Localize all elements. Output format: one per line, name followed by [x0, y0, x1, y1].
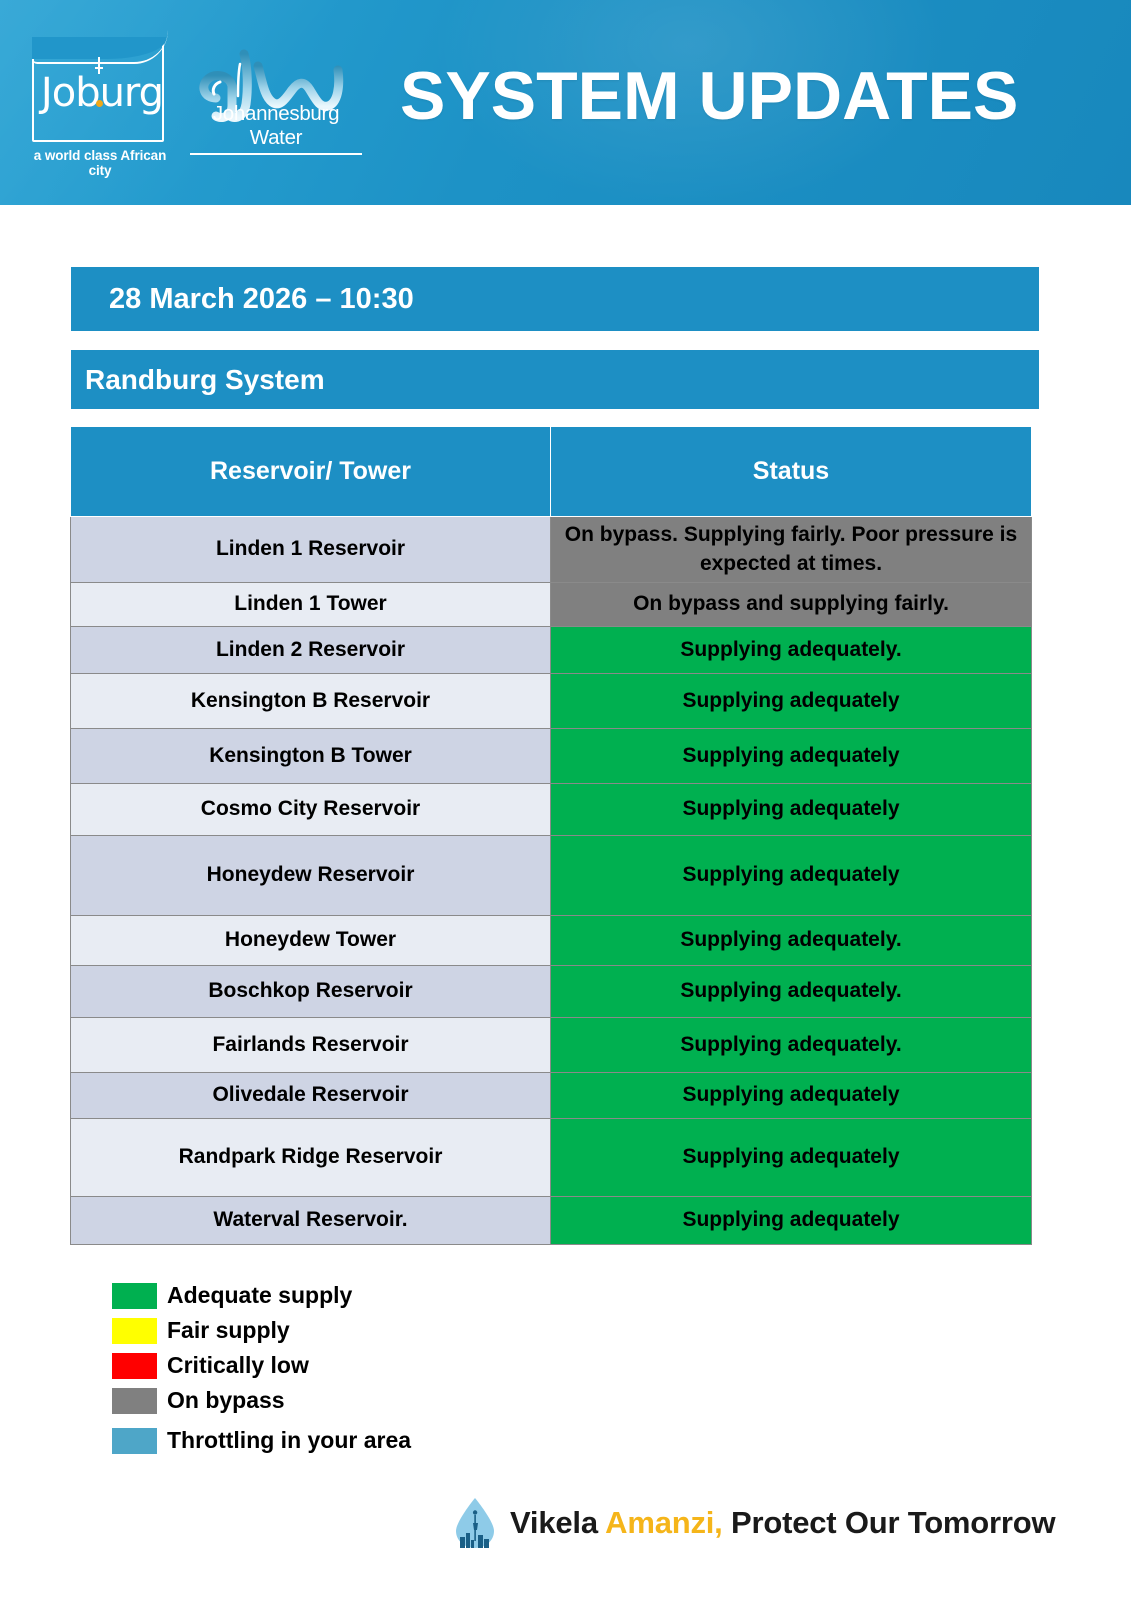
table-row: Honeydew TowerSupplying adequately. [71, 916, 1032, 966]
reservoir-name-cell: Linden 1 Tower [71, 583, 551, 627]
reservoir-name-cell: Waterval Reservoir. [71, 1197, 551, 1245]
johannesburg-water-underline [190, 153, 362, 155]
reservoir-name-cell: Fairlands Reservoir [71, 1018, 551, 1073]
joburg-logo-dot [96, 100, 103, 107]
reservoir-status-table: Reservoir/ Tower Status Linden 1 Reservo… [70, 426, 1032, 1245]
reservoir-name-cell: Kensington B Tower [71, 729, 551, 784]
reservoir-name-cell: Honeydew Reservoir [71, 836, 551, 916]
table-row: Olivedale ReservoirSupplying adequately [71, 1073, 1032, 1119]
table-row: Kensington B ReservoirSupplying adequate… [71, 674, 1032, 729]
status-cell: Supplying adequately [551, 1119, 1032, 1197]
reservoir-name-cell: Honeydew Tower [71, 916, 551, 966]
status-cell: Supplying adequately [551, 1073, 1032, 1119]
legend-color-swatch [112, 1318, 157, 1344]
reservoir-name-cell: Kensington B Reservoir [71, 674, 551, 729]
footer: Vikela Amanzi, Protect Our Tomorrow [452, 1495, 1055, 1551]
legend-label: Throttling in your area [167, 1427, 411, 1454]
status-cell: Supplying adequately. [551, 627, 1032, 674]
legend-item: Fair supply [112, 1313, 632, 1348]
status-cell: Supplying adequately [551, 1197, 1032, 1245]
legend-item: Critically low [112, 1348, 632, 1383]
legend-item: Throttling in your area [112, 1418, 632, 1463]
status-cell: On bypass and supplying fairly. [551, 583, 1032, 627]
joburg-logo-tagline: a world class African city [30, 148, 170, 178]
table-row: Cosmo City ReservoirSupplying adequately [71, 784, 1032, 836]
status-cell: Supplying adequately. [551, 966, 1032, 1018]
status-cell: Supplying adequately. [551, 1018, 1032, 1073]
footer-tagline-part1: Vikela [510, 1505, 605, 1540]
status-cell: Supplying adequately [551, 729, 1032, 784]
legend: Adequate supply Fair supplyCritically lo… [112, 1278, 632, 1463]
table-row: Randpark Ridge ReservoirSupplying adequa… [71, 1119, 1032, 1197]
page-title: SYSTEM UPDATES [400, 57, 1100, 135]
reservoir-name-cell: Olivedale Reservoir [71, 1073, 551, 1119]
water-drop-city-icon [452, 1497, 498, 1549]
johannesburg-water-wordmark: Johannesburg Water [186, 102, 366, 150]
status-cell: Supplying adequately [551, 836, 1032, 916]
table-header-row: Reservoir/ Tower Status [71, 427, 1032, 517]
reservoir-name-cell: Boschkop Reservoir [71, 966, 551, 1018]
page-header: Joburg a world class African city Johann… [0, 0, 1131, 205]
legend-color-swatch [112, 1388, 157, 1414]
status-cell: Supplying adequately. [551, 916, 1032, 966]
system-banner: Randburg System [71, 350, 1039, 409]
date-banner: 28 March 2026 – 10:30 [71, 267, 1039, 331]
footer-tagline: Vikela Amanzi, Protect Our Tomorrow [510, 1505, 1055, 1541]
status-cell: Supplying adequately [551, 784, 1032, 836]
footer-tagline-amanzi: Amanzi, [605, 1505, 722, 1540]
johannesburg-water-logo: Johannesburg Water [186, 46, 366, 156]
column-header-reservoir: Reservoir/ Tower [71, 427, 551, 517]
table-row: Linden 2 ReservoirSupplying adequately. [71, 627, 1032, 674]
reservoir-name-cell: Linden 2 Reservoir [71, 627, 551, 674]
joburg-logo: Joburg a world class African city [30, 36, 172, 181]
table-row: Honeydew ReservoirSupplying adequately [71, 836, 1032, 916]
legend-color-swatch [112, 1353, 157, 1379]
legend-label: Critically low [167, 1352, 309, 1379]
legend-label: On bypass [167, 1387, 285, 1414]
joburg-tower-icon [98, 57, 100, 74]
legend-color-swatch [112, 1428, 157, 1454]
legend-label: Adequate supply [167, 1282, 352, 1309]
footer-tagline-part2: Protect Our Tomorrow [723, 1505, 1056, 1540]
reservoir-name-cell: Linden 1 Reservoir [71, 517, 551, 583]
column-header-status: Status [551, 427, 1032, 517]
joburg-logo-frame: Joburg [32, 38, 164, 142]
reservoir-name-cell: Randpark Ridge Reservoir [71, 1119, 551, 1197]
legend-item: On bypass [112, 1383, 632, 1418]
table-row: Linden 1 ReservoirOn bypass. Supplying f… [71, 517, 1032, 583]
status-cell: On bypass. Supplying fairly. Poor pressu… [551, 517, 1032, 583]
joburg-logo-wordmark: Joburg [34, 70, 170, 116]
status-cell: Supplying adequately [551, 674, 1032, 729]
table-row: Linden 1 TowerOn bypass and supplying fa… [71, 583, 1032, 627]
legend-color-swatch [112, 1283, 157, 1309]
table-row: Kensington B TowerSupplying adequately [71, 729, 1032, 784]
legend-item: Adequate supply [112, 1278, 632, 1313]
table-row: Waterval Reservoir.Supplying adequately [71, 1197, 1032, 1245]
reservoir-name-cell: Cosmo City Reservoir [71, 784, 551, 836]
table-row: Boschkop ReservoirSupplying adequately. [71, 966, 1032, 1018]
joburg-logo-arc [32, 30, 168, 64]
table-row: Fairlands ReservoirSupplying adequately. [71, 1018, 1032, 1073]
legend-label: Fair supply [167, 1317, 290, 1344]
